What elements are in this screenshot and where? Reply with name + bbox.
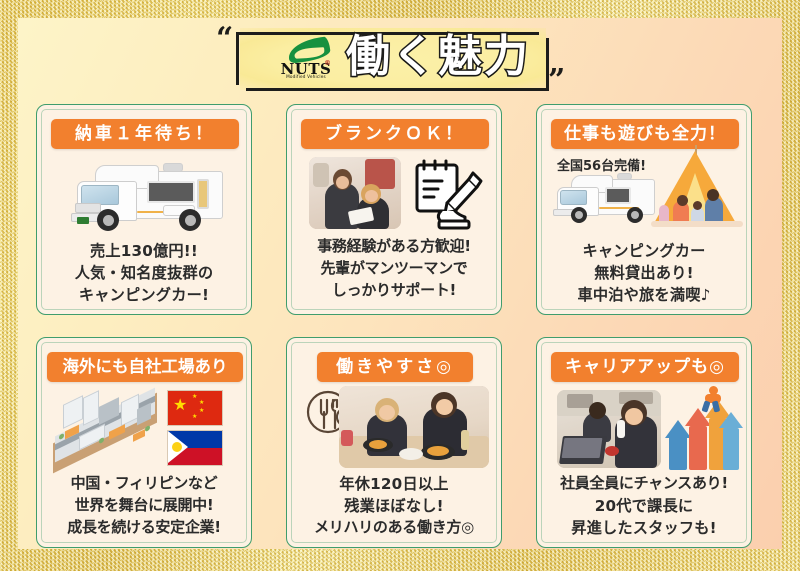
card-body-line-3: 車中泊や旅を満喫♪ <box>541 285 747 305</box>
climbing-person-icon <box>697 386 727 412</box>
card-delivery-wait: 納車１年待ち！ 売上130億円!! <box>36 104 252 315</box>
cards-grid: 納車１年待ち！ 売上130億円!! <box>36 104 764 543</box>
card-body-line-2: 20代で課長に <box>541 496 747 516</box>
card-body-line-3: 昇進したスタッフも! <box>541 518 747 538</box>
card-body-line-1: 年休120日以上 <box>291 474 497 494</box>
camper-van-illustration <box>67 161 227 235</box>
card-body-line-2: 残業ほぼなし! <box>291 496 497 516</box>
card-badge: 働きやすさ◎ <box>317 352 473 382</box>
card-body-line-3: キャンピングカー! <box>41 285 247 305</box>
logo-tagline: Modified Vehicles <box>280 74 332 79</box>
card-body-line-2: 先輩がマンツーマンで <box>291 259 497 279</box>
card-body-line-2: 無料貸出あり! <box>541 263 747 283</box>
card-work-and-play: 仕事も遊びも全力！ 全国56台完備! <box>536 104 752 315</box>
card-badge: キャリアアップも◎ <box>551 352 739 382</box>
card-career-up: キャリアアップも◎ <box>536 337 752 548</box>
flag-philippines-icon <box>167 430 223 466</box>
card-body-line-3: しっかりサポート! <box>291 281 497 301</box>
card-body-line-1: 中国・フィリピンなど <box>41 474 247 494</box>
camping-tent-illustration <box>647 145 747 233</box>
card-badge: 納車１年待ち！ <box>51 119 239 149</box>
factory-illustration <box>49 392 161 464</box>
card-body-line-1: 事務経験がある方歓迎! <box>291 237 497 257</box>
card-body-line-1: 社員全員にチャンスあり! <box>541 474 747 494</box>
flag-china-icon: ★ ★ ★ ★ ★ <box>167 390 223 426</box>
quote-close-icon: ” <box>548 66 563 96</box>
quote-open-icon: “ <box>216 24 231 54</box>
poster-inner-panel: “ ” NUTS ® Modified Vehicles 働く魅力 納車１年待ち… <box>18 18 782 549</box>
camper-van-illustration <box>551 173 655 231</box>
photo-lunch-break <box>339 386 489 468</box>
photo-office-work <box>557 390 661 468</box>
card-blank-ok: ブランクＯＫ！ <box>286 104 502 315</box>
card-overseas-factory: 海外にも自社工場あり <box>36 337 252 548</box>
card-badge: 海外にも自社工場あり <box>47 352 243 382</box>
card-badge: ブランクＯＫ！ <box>301 119 489 149</box>
photo-office-training <box>309 157 401 229</box>
card-body-line-1: キャンピングカー <box>541 241 747 261</box>
card-body-line-2: 世界を舞台に展開中! <box>41 496 247 516</box>
card-body-line-2: 人気・知名度抜群の <box>41 263 247 283</box>
page-title: 働く魅力 <box>346 26 546 88</box>
card-work-comfort: 働きやすさ◎ <box>286 337 502 548</box>
clipboard-pencil-icon <box>411 155 485 231</box>
growth-arrows-illustration <box>667 386 741 470</box>
poster-root: “ ” NUTS ® Modified Vehicles 働く魅力 納車１年待ち… <box>0 0 800 571</box>
card-note: 全国56台完備! <box>557 155 646 174</box>
card-body-line-1: 売上130億円!! <box>41 241 247 261</box>
nuts-logo: NUTS ® Modified Vehicles <box>280 39 338 81</box>
trademark-icon: ® <box>324 59 331 67</box>
card-body-line-3: 成長を続ける安定企業! <box>41 518 247 538</box>
title-header: “ ” NUTS ® Modified Vehicles 働く魅力 <box>218 18 578 114</box>
card-body-line-3: メリハリのある働き方◎ <box>291 518 497 538</box>
